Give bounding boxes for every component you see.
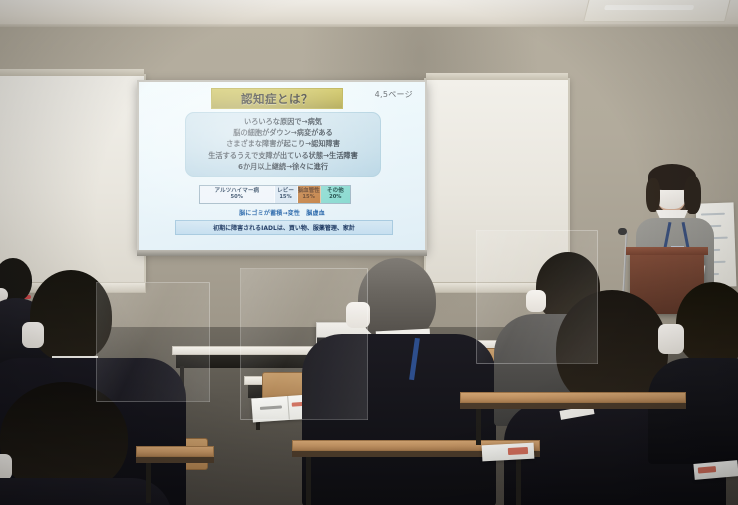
- face-mask-icon: [656, 188, 686, 209]
- dementia-cause-stacked-bar: アルツハイマー病50%レビー15%脳血管性15%その他20%: [199, 185, 351, 204]
- slide-note-line: 脳にゴミが蓄積→変性 脳虚血: [139, 208, 425, 217]
- presenter-hair-right: [684, 176, 701, 214]
- slide-content: 認知症とは？ 4,5ページ いろいろな原因で→病気 脳の細胞がダウン→病変がある…: [139, 82, 425, 250]
- bar-segment-2: レビー15%: [275, 186, 298, 203]
- audience-front-left-head: [0, 382, 152, 505]
- slide-footer-line: 初期に障害されるIADLは、買い物、服薬管理、家計: [175, 220, 393, 235]
- slide-bullet-1: いろいろな原因で→病気: [244, 117, 322, 127]
- whiteboard-rail-right: [426, 73, 568, 80]
- lecture-room-photo: 認知症とは？ 4,5ページ いろいろな原因で→病気 脳の細胞がダウン→病変がある…: [0, 0, 738, 505]
- screen-bottom-bar: [137, 250, 427, 256]
- slide-body-box: いろいろな原因で→病気 脳の細胞がダウン→病変がある さまざまな障害が起こり→認…: [185, 112, 381, 177]
- slide-bullet-4: 生活するうえで支障が出ている状態→生活障害: [208, 151, 358, 161]
- whiteboard-panel-left: [0, 74, 146, 286]
- wood-desk-left: [136, 446, 214, 504]
- whiteboard-rail-left: [0, 69, 144, 76]
- handout-front: [482, 443, 535, 462]
- slide-bullet-3: さまざまな障害が起こり→認知障害: [226, 139, 340, 149]
- bar-segment-3: 脳血管性15%: [298, 186, 321, 203]
- bar-segment-value: 15%: [279, 195, 291, 200]
- bar-segment-value: 20%: [329, 195, 341, 200]
- projection-screen: 認知症とは？ 4,5ページ いろいろな原因で→病気 脳の細胞がダウン→病変がある…: [139, 82, 425, 250]
- bar-segment-4: その他20%: [321, 186, 350, 203]
- ceiling-light-fixture: [583, 0, 731, 22]
- microphone-icon: [618, 228, 627, 235]
- bar-segment-value: 15%: [302, 195, 314, 200]
- wood-desk-right: [460, 392, 686, 446]
- light-tube: [604, 5, 695, 10]
- presenter-hair-left: [646, 178, 660, 212]
- bar-segment-1: アルツハイマー病50%: [200, 186, 275, 203]
- slide-bullet-5: 6か月以上継続→徐々に進行: [238, 162, 328, 172]
- slide-title: 認知症とは？: [211, 88, 343, 109]
- slide-bullet-2: 脳の細胞がダウン→病変がある: [233, 128, 332, 138]
- bar-segment-value: 50%: [231, 195, 243, 200]
- slide-page-note: 4,5ページ: [375, 89, 413, 100]
